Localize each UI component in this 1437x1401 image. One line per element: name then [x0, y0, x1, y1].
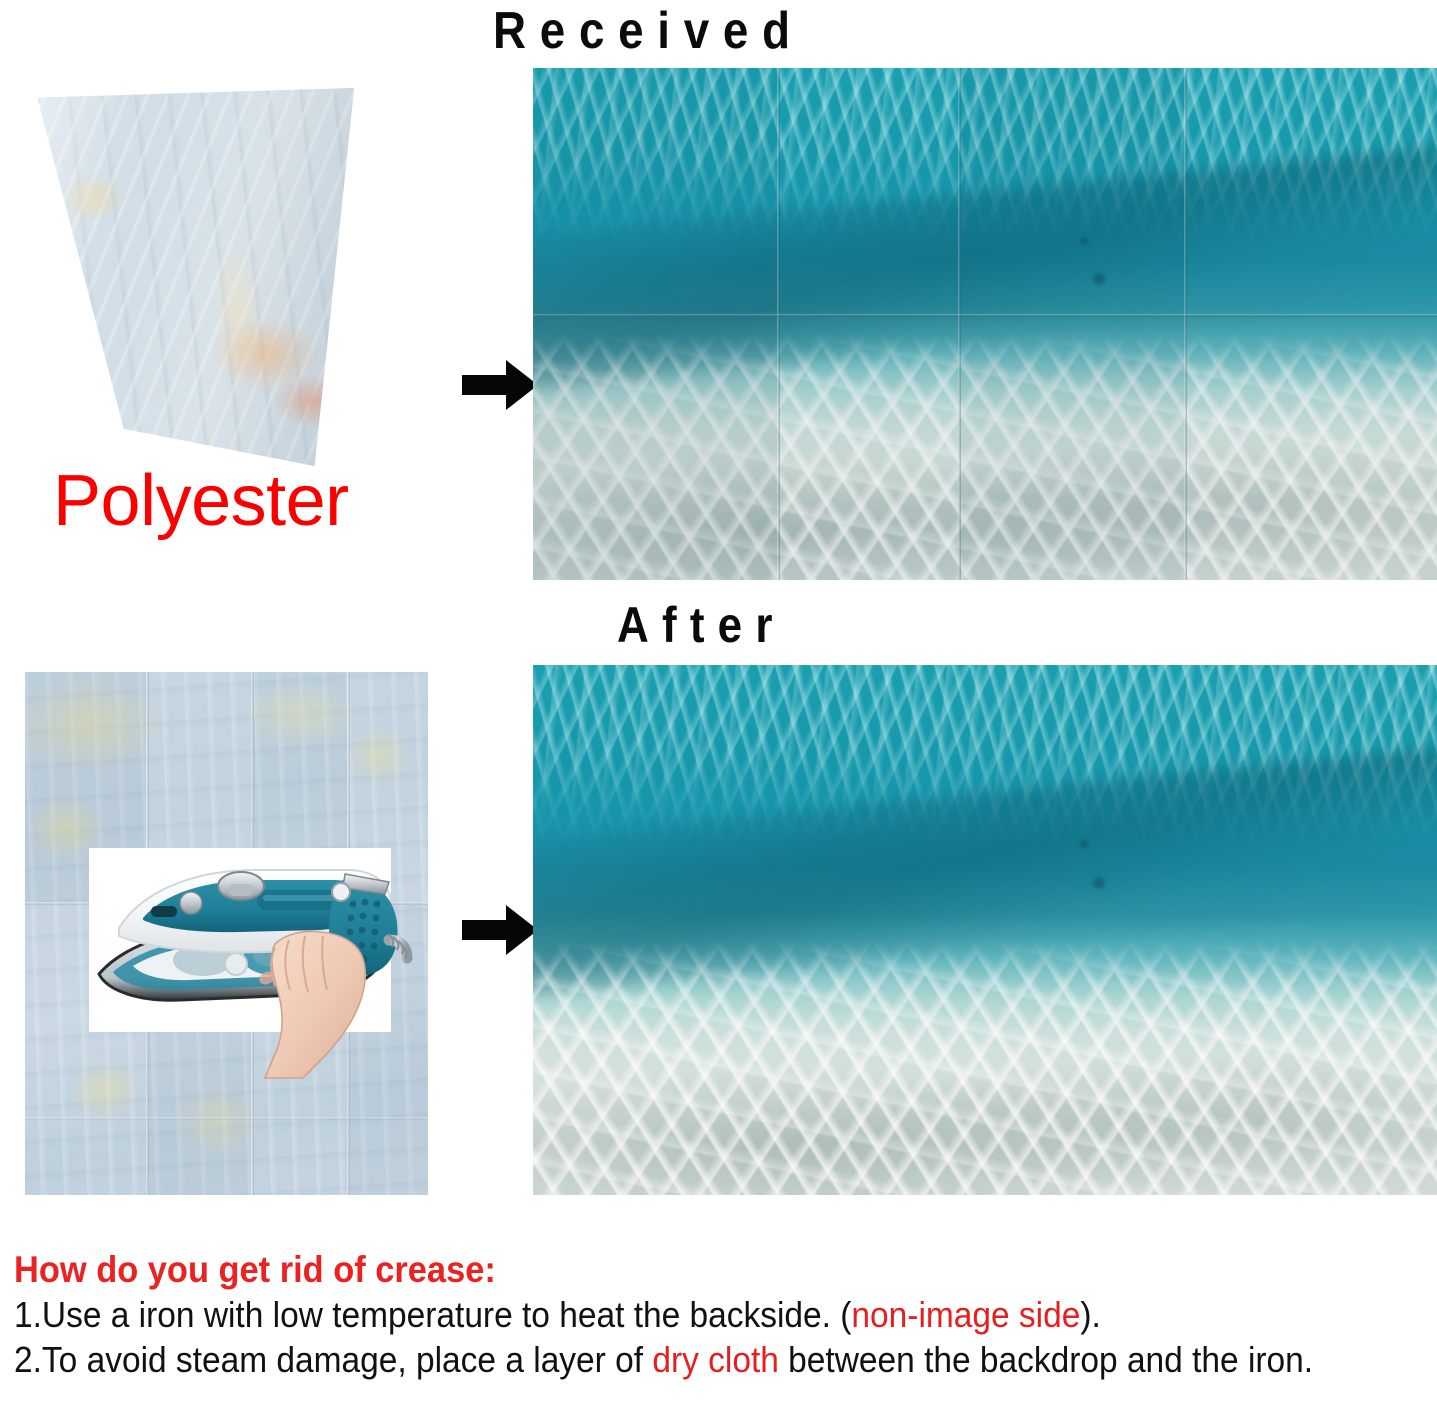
care-instructions-heading: How do you get rid of crease:	[14, 1248, 1330, 1292]
arrow-right-icon	[462, 903, 538, 957]
section-title-after: After	[617, 597, 786, 653]
arrow-right-icon	[462, 358, 538, 412]
polyester-material-label: Polyester	[53, 463, 349, 539]
care-line-1-prefix: 1.Use a iron with low temperature to hea…	[14, 1294, 851, 1335]
water-debris-speck	[1080, 840, 1088, 848]
care-instruction-line-2: 2.To avoid steam damage, place a layer o…	[14, 1337, 1330, 1382]
care-line-2-highlight: dry cloth	[652, 1339, 779, 1380]
care-instructions-block: How do you get rid of crease: 1.Use a ir…	[14, 1248, 1429, 1382]
care-line-1-suffix: ).	[1080, 1294, 1100, 1335]
steam-iron-icon	[89, 848, 409, 1078]
folded-fabric-sample	[8, 72, 428, 487]
received-backdrop-photo	[533, 68, 1437, 580]
sandy-seabed-caustics	[533, 334, 1437, 580]
water-debris-speck	[1080, 237, 1088, 245]
after-backdrop-photo	[533, 665, 1437, 1195]
care-line-2-suffix: between the backdrop and the iron.	[779, 1339, 1313, 1380]
care-line-2-prefix: 2.To avoid steam damage, place a layer o…	[14, 1339, 652, 1380]
ironing-demo-photo	[25, 672, 428, 1195]
folded-fabric-swatch	[14, 80, 374, 472]
care-line-1-highlight: non-image side	[851, 1294, 1080, 1335]
sandy-seabed-caustics	[533, 941, 1437, 1195]
hand-icon	[257, 932, 365, 1079]
section-title-received: Received	[493, 2, 804, 60]
care-instruction-line-1: 1.Use a iron with low temperature to hea…	[14, 1292, 1330, 1337]
